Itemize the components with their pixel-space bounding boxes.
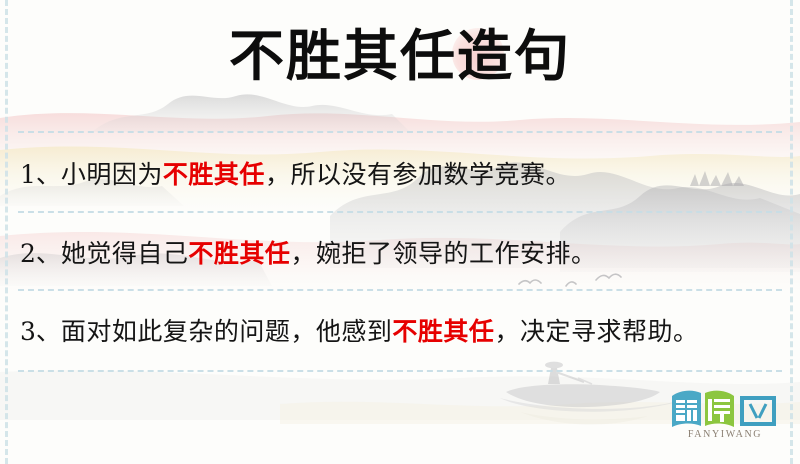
sentence-index: 3、	[20, 317, 61, 346]
sentence-text-after: ，决定寻求帮助。	[494, 317, 698, 346]
list-item: 1、小明因为不胜其任，所以没有参加数学竞赛。	[20, 158, 780, 192]
divider-rule-2	[18, 211, 782, 213]
sentence-index: 2、	[20, 239, 61, 268]
idiom-highlight: 不胜其任	[188, 239, 290, 268]
list-item: 3、面对如此复杂的问题，他感到不胜其任，决定寻求帮助。	[20, 315, 780, 349]
watermark-latin-text: FANYIWANG	[664, 429, 786, 440]
divider-rule-4	[18, 370, 782, 372]
divider-rule-1	[18, 131, 782, 133]
page-title: 不胜其任造句	[0, 24, 800, 88]
list-item: 2、她觉得自己不胜其任，婉拒了领导的工作安排。	[20, 237, 780, 271]
sentence-text-before: 面对如此复杂的问题，他感到	[61, 317, 393, 346]
sentence-text-before: 小明因为	[61, 160, 163, 189]
divider-rule-3	[18, 289, 782, 291]
idiom-highlight: 不胜其任	[163, 160, 265, 189]
idiom-sentence-card: 不胜其任造句 1、小明因为不胜其任，所以没有参加数学竞赛。 2、她觉得自己不胜其…	[0, 0, 800, 464]
sentence-text-after: ，所以没有参加数学竞赛。	[265, 160, 571, 189]
idiom-highlight: 不胜其任	[392, 317, 494, 346]
sentence-text-after: ，婉拒了领导的工作安排。	[290, 239, 596, 268]
open-book-icon	[664, 386, 786, 432]
sentence-index: 1、	[20, 160, 61, 189]
sentence-text-before: 她觉得自己	[61, 239, 189, 268]
site-watermark-logo: FANYIWANG	[664, 386, 786, 448]
